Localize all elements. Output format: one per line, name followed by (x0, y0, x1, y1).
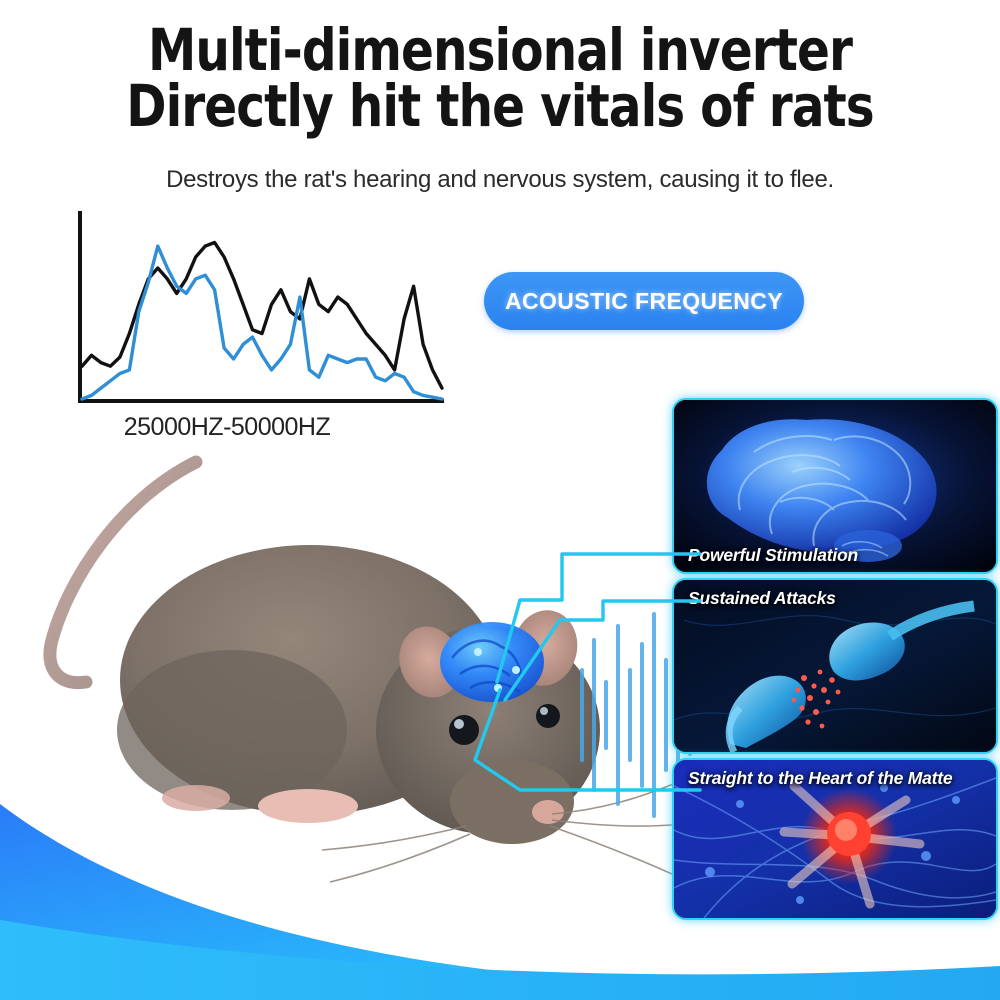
frequency-chart-svg (62, 205, 462, 415)
rat-eye-right (536, 704, 560, 728)
acoustic-frequency-badge[interactable]: ACOUSTIC FREQUENCY (484, 272, 804, 330)
bottom-wave-decoration (0, 770, 1000, 1000)
panel-caption: Sustained Attacks (688, 588, 836, 609)
product-infographic: Multi-dimensional inverter Directly hit … (0, 0, 1000, 1000)
brain-overlay-icon (440, 622, 544, 702)
chart-series-black (82, 243, 442, 389)
acoustic-frequency-label: ACOUSTIC FREQUENCY (505, 288, 783, 315)
rat-eye-right-glint (540, 707, 548, 715)
page-title: Multi-dimensional inverter Directly hit … (35, 22, 965, 134)
panel-caption: Powerful Stimulation (688, 545, 858, 566)
frequency-chart: 25000HZ-50000HZ (62, 205, 462, 460)
feature-panel-powerful-stimulation[interactable]: Powerful Stimulation (672, 398, 998, 574)
feature-panel-sustained-attacks[interactable]: Sustained Attacks (672, 578, 998, 754)
chart-series-blue (82, 246, 442, 399)
chart-axis (80, 211, 444, 401)
rat-eye-left-glint (454, 719, 464, 729)
headline-line-1: Multi-dimensional inverter (35, 22, 965, 78)
rat-eye-left (449, 715, 479, 745)
subtitle: Destroys the rat's hearing and nervous s… (0, 166, 1000, 194)
headline-line-2: Directly hit the vitals of rats (35, 78, 965, 134)
